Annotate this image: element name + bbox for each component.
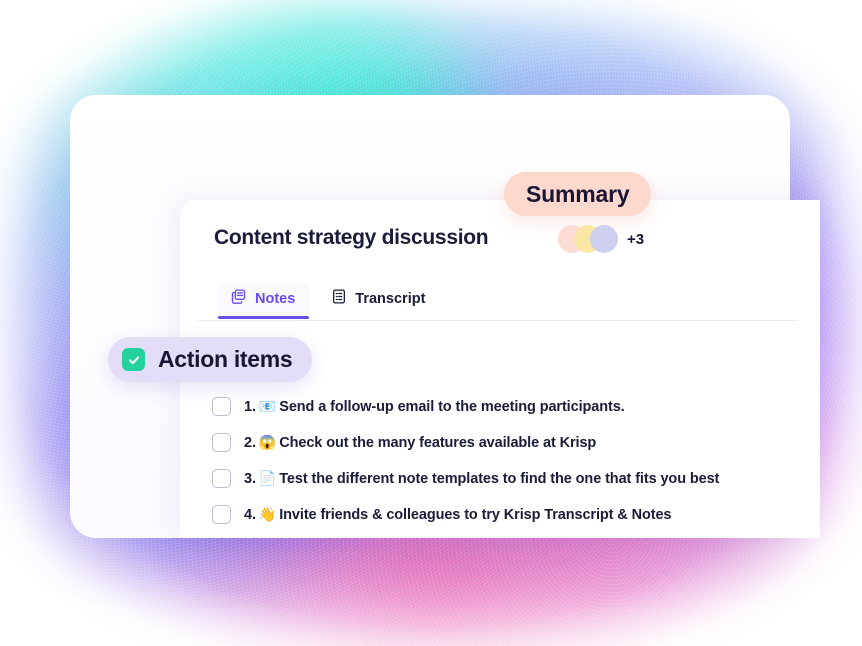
action-item-body: Check out the many features available at…: [279, 435, 596, 451]
action-item-number: 4.: [244, 507, 256, 523]
tab-transcript[interactable]: Transcript: [319, 282, 439, 319]
page-title: Content strategy discussion: [214, 226, 488, 250]
action-item-body: Test the different note templates to fin…: [279, 471, 719, 487]
action-item-checkbox[interactable]: [212, 469, 231, 488]
avatar-3: [590, 225, 618, 253]
action-item-text: 4.👋Invite friends & colleagues to try Kr…: [244, 506, 671, 523]
action-item-checkbox[interactable]: [212, 397, 231, 416]
list-item[interactable]: 3.📄Test the different note templates to …: [212, 466, 719, 490]
action-item-text: 2.😱Check out the many features available…: [244, 434, 596, 451]
action-item-text: 1.📧Send a follow-up email to the meeting…: [244, 398, 625, 415]
tab-notes-label: Notes: [255, 291, 295, 307]
checkbox-checked-icon: [122, 348, 145, 371]
tab-divider: [198, 320, 798, 321]
action-item-checkbox[interactable]: [212, 433, 231, 452]
action-item-number: 2.: [244, 435, 256, 451]
action-items-label: Action items: [158, 346, 292, 373]
face-screaming-emoji: 😱: [259, 434, 276, 450]
notes-icon: [230, 288, 247, 310]
action-item-number: 1.: [244, 399, 256, 415]
tab-transcript-label: Transcript: [355, 291, 425, 307]
action-item-checkbox[interactable]: [212, 505, 231, 524]
action-items-list: 1.📧Send a follow-up email to the meeting…: [212, 394, 719, 526]
list-item[interactable]: 1.📧Send a follow-up email to the meeting…: [212, 394, 719, 418]
participant-avatars[interactable]: +3: [558, 225, 644, 253]
background-glow-pink: [120, 520, 760, 646]
action-items-heading: Action items: [108, 337, 312, 382]
action-item-body: Invite friends & colleagues to try Krisp…: [279, 507, 671, 523]
list-item[interactable]: 4.👋Invite friends & colleagues to try Kr…: [212, 502, 719, 526]
app-stage: Content strategy discussion Notes: [0, 0, 862, 646]
status-badge-summary[interactable]: Summary: [504, 172, 651, 216]
list-item[interactable]: 2.😱Check out the many features available…: [212, 430, 719, 454]
avatar-overflow-count: +3: [627, 231, 644, 248]
tab-notes[interactable]: Notes: [218, 282, 309, 319]
action-item-body: Send a follow-up email to the meeting pa…: [279, 399, 624, 415]
summary-badge-label: Summary: [526, 181, 629, 208]
email-emoji: 📧: [259, 398, 276, 414]
action-item-number: 3.: [244, 471, 256, 487]
tab-bar: Notes Transcript: [218, 282, 439, 319]
transcript-icon: [331, 288, 347, 310]
waving-hand-emoji: 👋: [259, 506, 276, 522]
page-emoji: 📄: [259, 470, 276, 486]
action-item-text: 3.📄Test the different note templates to …: [244, 470, 719, 487]
